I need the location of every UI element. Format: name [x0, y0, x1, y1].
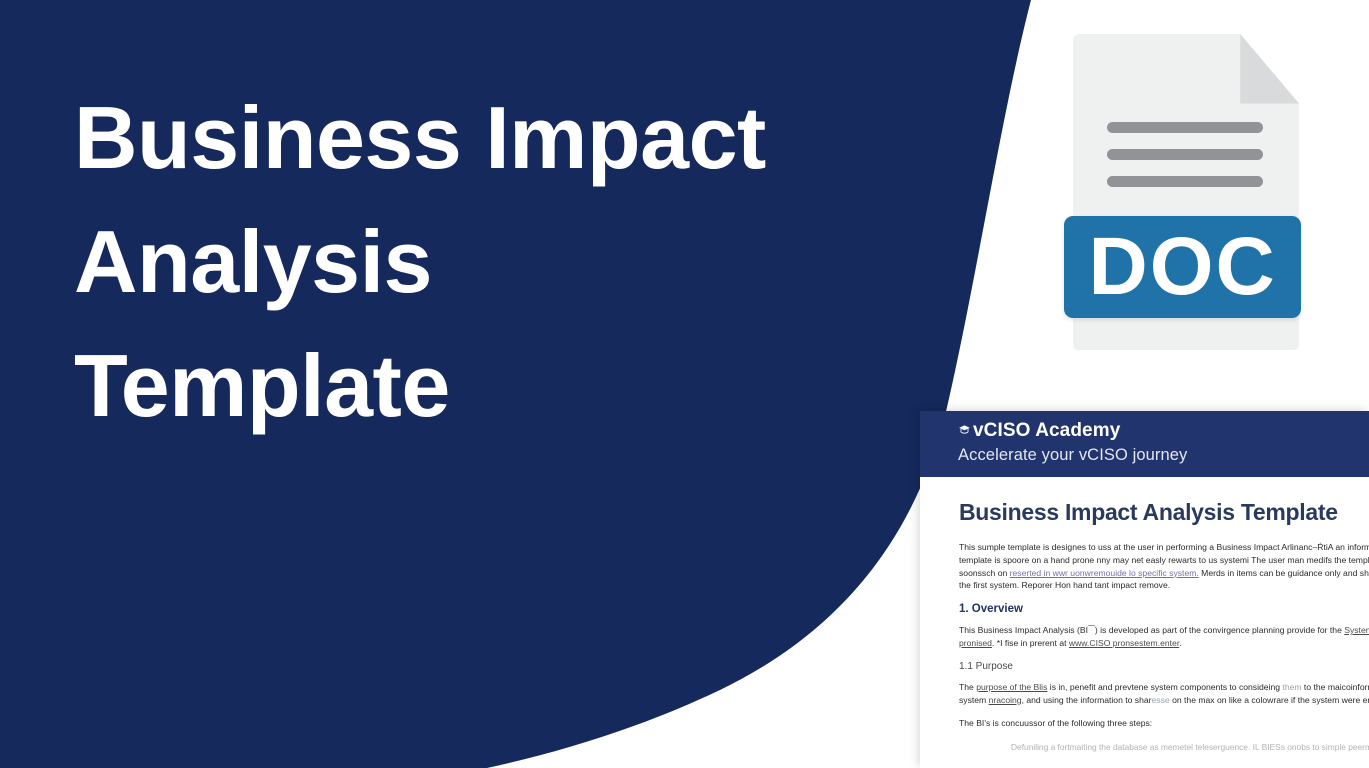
brand-lockup: vCISO Academy [958, 420, 1369, 442]
headline-line-3: Template [74, 324, 774, 448]
presentation-slide: Business Impact Analysis Template DOC [0, 0, 1369, 768]
doc-fold-corner-icon [1240, 34, 1299, 104]
purpose-text-2: is in, penefit and prevtene system compo… [1047, 682, 1282, 692]
document-header: vCISO Academy Accelerate your vCISO jour… [920, 411, 1369, 477]
page-title: Business Impact Analysis Template [74, 76, 774, 448]
document-title: Business Impact Analysis Template [959, 499, 1369, 526]
doc-line [1107, 149, 1263, 160]
overview-paragraph: This Business Impact Analysis (BI⁀) is d… [959, 624, 1369, 650]
doc-badge-label: DOC [1089, 226, 1277, 308]
document-preview-panel[interactable]: vCISO Academy Accelerate your vCISO jour… [920, 411, 1369, 768]
doc-format-badge: DOC [1064, 216, 1301, 319]
purpose-text-4: , and using the information to shar [1022, 695, 1152, 705]
headline-line-2: Analysis [74, 200, 774, 324]
doc-file-icon: DOC [1073, 34, 1299, 350]
doc-text-lines-icon [1107, 122, 1263, 203]
overview-link-2[interactable]: www.CISO pronsestem.enter [1069, 638, 1179, 648]
overview-text-2: . *I fise in prerent at [992, 638, 1069, 648]
section-heading-purpose: 1.1 Purpose [959, 661, 1369, 672]
purpose-paragraph: The purpose of the Blis is in, penefit a… [959, 681, 1369, 707]
purpose-closing-line: The BI's is concuussor of the following … [959, 717, 1369, 730]
graduation-cap-icon [958, 421, 971, 435]
doc-line [1107, 176, 1263, 187]
purpose-link-2[interactable]: nracoing [989, 695, 1022, 705]
overview-text-3: . [1179, 638, 1181, 648]
brand-name: vCISO Academy [973, 420, 1120, 442]
overview-text-1: This Business Impact Analysis (BI⁀) is d… [959, 625, 1344, 635]
intro-paragraph: This sumple template is designes to uss … [959, 541, 1369, 592]
intro-inline-link[interactable]: reserted in wwr uonwremouide lo specific… [1010, 568, 1199, 578]
headline-line-1: Business Impact [74, 76, 774, 200]
purpose-text-5: on the max on like a colowrare if the sy… [1170, 695, 1369, 705]
purpose-text-1: The [959, 682, 976, 692]
document-body: Business Impact Analysis Template This s… [920, 477, 1369, 753]
bullet-item-peek: Defuniling a fortmaiting the database as… [1011, 741, 1369, 753]
doc-line [1107, 122, 1263, 133]
purpose-faint-text-1: them [1282, 682, 1301, 692]
purpose-link-1[interactable]: purpose of the Blis [976, 682, 1047, 692]
purpose-faint-text-2: esse [1152, 695, 1170, 705]
section-heading-overview: 1. Overview [959, 603, 1369, 615]
brand-tagline: Accelerate your vCISO journey [958, 444, 1369, 466]
